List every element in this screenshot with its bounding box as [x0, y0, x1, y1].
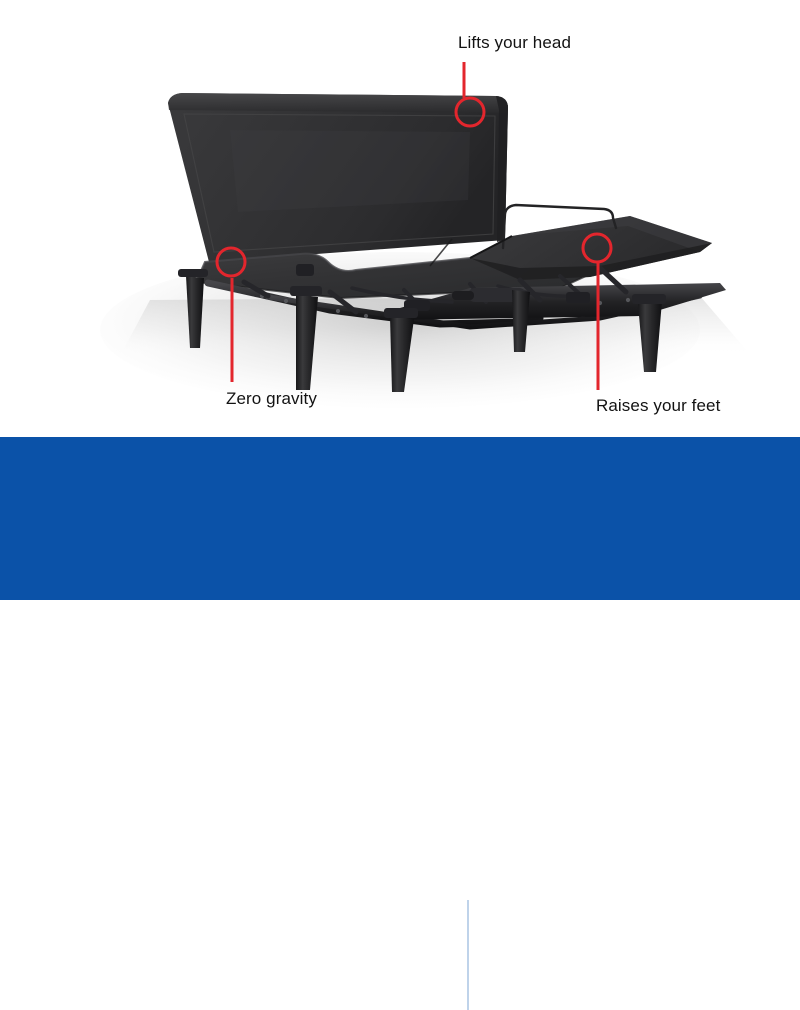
foot-deck [470, 216, 712, 280]
headline-line-2: SLEEP SYSTEM WITH [89, 937, 446, 964]
callout-label-zero-gravity: Zero gravity [226, 389, 317, 409]
banner-headline: COMPLETE YOUR SLEEP SYSTEM WITH A POWER … [89, 910, 459, 991]
banner-divider [467, 900, 469, 1010]
subcopy-line-1: Pair your mattress [510, 897, 780, 925]
callout-label-lifts-your-head: Lifts your head [458, 33, 571, 53]
banner-subcopy: Pair your mattress with an adjustable ba… [510, 897, 780, 1007]
promo-banner: COMPLETE YOUR SLEEP SYSTEM WITH A POWER … [0, 437, 800, 600]
callout-label-raises-your-feet: Raises your feet [596, 396, 720, 416]
adjustable-base-illustration [0, 0, 800, 437]
product-photo: Lifts your head Zero gravity Raises your… [0, 0, 800, 437]
subcopy-line-3: base for maximum [510, 952, 780, 980]
headline-line-1: COMPLETE YOUR [89, 910, 446, 937]
subcopy-line-4: all-night support. [510, 980, 780, 1008]
subcopy-line-2: with an adjustable [510, 925, 780, 953]
headline-line-3: A POWER BASE. [89, 964, 446, 991]
promo-graphic: Lifts your head Zero gravity Raises your… [0, 0, 800, 600]
